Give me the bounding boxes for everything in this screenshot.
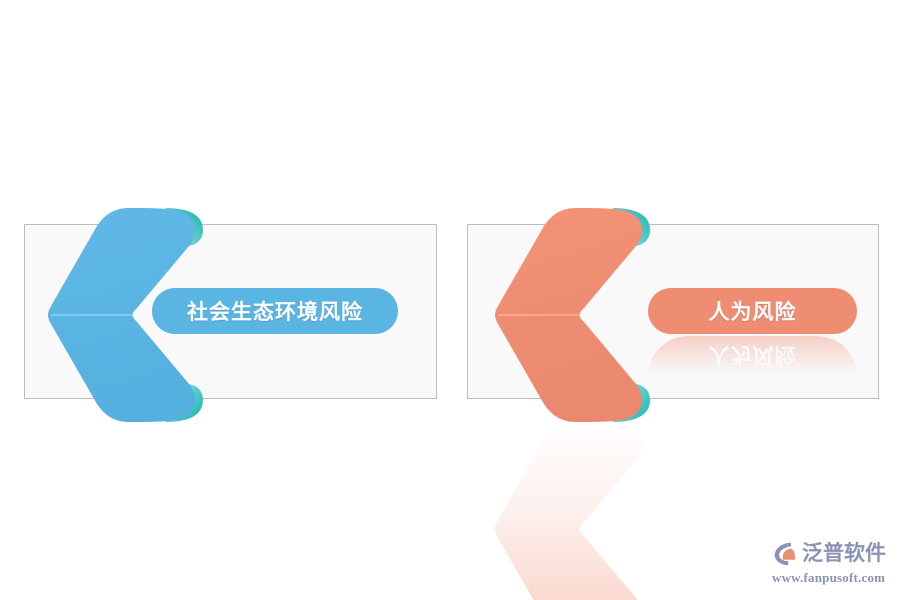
- pill-right-label[interactable]: 人为风险: [648, 288, 857, 334]
- logo-wordmark: 泛普软件: [802, 543, 886, 564]
- chevron-arrow-right-orange: [492, 190, 677, 475]
- fanpusoft-logo-mark-icon: [772, 540, 799, 567]
- fanpusoft-logo: 泛普软件 www.fanpusoft.com: [772, 538, 890, 588]
- arrow-reflection: [495, 422, 642, 600]
- logo-row: 泛普软件: [772, 538, 890, 568]
- pill-left-label[interactable]: 社会生态环境风险: [152, 288, 398, 334]
- pill-right-reflection-text: 人为风险: [709, 341, 797, 371]
- diagram-canvas: 社会生态环境风险: [0, 0, 900, 600]
- logo-url: www.fanpusoft.com: [772, 570, 890, 586]
- pill-left-text: 社会生态环境风险: [187, 296, 363, 326]
- pill-right-reflection: 人为风险: [648, 336, 857, 376]
- pill-right-text: 人为风险: [709, 296, 797, 326]
